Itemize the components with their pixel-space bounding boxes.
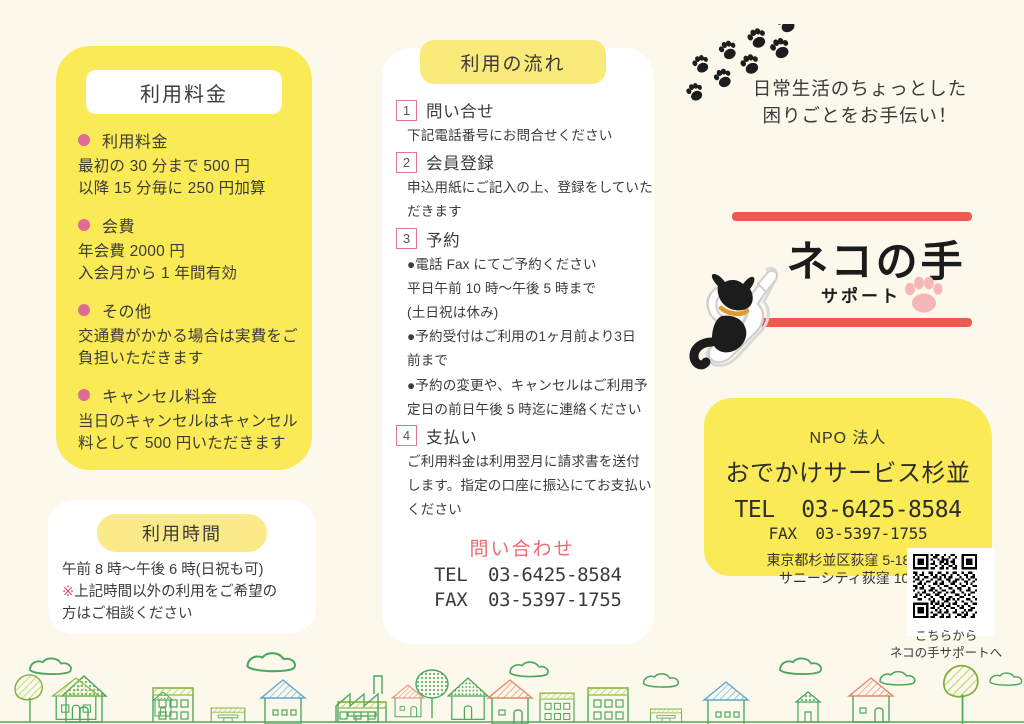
fee-item: 会費 年会費 2000 円 入会月から 1 年間有効 bbox=[78, 213, 302, 285]
fee-panel-title: 利用料金 bbox=[86, 70, 282, 114]
flow-panel: 利用の流れ 1 問い合せ 下記電話番号にお問合せください 2 会員登録 申込用紙… bbox=[382, 48, 654, 644]
flow-step: 3 予約 ●電話 Fax にてご予約ください 平日午前 10 時〜午後 5 時ま… bbox=[396, 227, 648, 422]
cat-illustration-icon bbox=[688, 264, 808, 380]
hours-line-2-text: 上記時間以外の利用をご希望の bbox=[74, 584, 277, 600]
fee-item-line: 交通費がかかる場合は実費をご bbox=[78, 326, 302, 348]
flow-step-label: 予約 bbox=[426, 227, 460, 251]
flow-step-line: ●予約の変更や、キャンセルはご利用予 bbox=[407, 374, 648, 398]
bullet-dot-icon bbox=[78, 389, 90, 401]
flow-contact-fax-row: FAX03-5397-1755 bbox=[434, 588, 648, 612]
hours-card-body: 午前 8 時〜午後 6 時(日祝も可) ※上記時間以外の利用をご希望の 方はご相… bbox=[62, 560, 312, 625]
flow-step-lines: ●電話 Fax にてご予約ください 平日午前 10 時〜午後 5 時まで (土日… bbox=[396, 253, 648, 422]
tagline: 日常生活のちょっとした 困りごとをお手伝い！ bbox=[730, 76, 990, 130]
hours-card-title: 利用時間 bbox=[97, 514, 267, 552]
fee-item-heading: 会費 bbox=[102, 213, 135, 237]
fee-item-line: 負担いただきます bbox=[78, 348, 302, 370]
bullet-dot-icon bbox=[78, 304, 90, 316]
flow-step-line: 平日午前 10 時〜午後 5 時まで bbox=[407, 277, 648, 301]
fee-item-heading: キャンセル料金 bbox=[102, 383, 218, 407]
step-number-badge: 4 bbox=[396, 425, 417, 446]
org-fax-label: FAX bbox=[769, 524, 797, 543]
qr-code[interactable] bbox=[907, 548, 995, 636]
fee-item-heading-row: 会費 bbox=[78, 213, 302, 237]
fee-item-heading-row: キャンセル料金 bbox=[78, 383, 302, 407]
step-number-badge: 2 bbox=[396, 152, 417, 173]
flow-step-line: 申込用紙にご記入の上、登録をしていた bbox=[407, 176, 648, 200]
step-number-badge: 1 bbox=[396, 100, 417, 121]
hours-line-3: 方はご相談ください bbox=[62, 604, 312, 626]
fee-item-lines: 当日のキャンセルはキャンセル 料として 500 円いただきます bbox=[78, 411, 302, 455]
fee-item-heading: その他 bbox=[102, 298, 152, 322]
tel-label: TEL bbox=[434, 563, 488, 587]
fax-value: 03-5397-1755 bbox=[488, 589, 622, 611]
fee-item-line: 料として 500 円いただきます bbox=[78, 433, 302, 455]
qr-caption-line-1: こちらから bbox=[868, 628, 1024, 645]
flow-step-line: ●電話 Fax にてご予約ください bbox=[407, 253, 648, 277]
flow-step-list: 1 問い合せ 下記電話番号にお問合せください 2 会員登録 申込用紙にご記入の上… bbox=[396, 98, 648, 612]
flow-step-line: (土日祝は休み) bbox=[407, 301, 648, 325]
fee-item-line: 最初の 30 分まで 500 円 bbox=[78, 156, 302, 178]
org-fax-row: FAX 03-5397-1755 bbox=[704, 524, 992, 543]
flow-step-lines: ご利用料金は利用翌月に請求書を送付 します。指定の口座に振込にてお支払い くださ… bbox=[396, 450, 648, 523]
attention-mark-icon: ※ bbox=[62, 584, 74, 600]
fee-item-heading: 利用料金 bbox=[102, 128, 168, 152]
step-number-badge: 3 bbox=[396, 228, 417, 249]
flow-contact-tel-row: TEL03-6425-8584 bbox=[434, 563, 648, 587]
flow-step-line: ●予約受付はご利用の1ヶ月前より3日 bbox=[407, 325, 648, 349]
org-fax-value: 03-5397-1755 bbox=[815, 524, 927, 543]
bullet-dot-icon bbox=[78, 134, 90, 146]
flow-step-head: 2 会員登録 bbox=[396, 150, 648, 174]
fax-label: FAX bbox=[434, 588, 488, 612]
flow-step: 1 問い合せ 下記電話番号にお問合せください bbox=[396, 98, 648, 148]
fee-item-list: 利用料金 最初の 30 分まで 500 円 以降 15 分毎に 250 円加算 … bbox=[78, 128, 302, 468]
flow-step-line: 前まで bbox=[407, 349, 648, 373]
fee-item-heading-row: 利用料金 bbox=[78, 128, 302, 152]
qr-code-image bbox=[913, 554, 977, 618]
logo-bar-top bbox=[732, 212, 972, 221]
fee-panel: 利用料金 利用料金 最初の 30 分まで 500 円 以降 15 分毎に 250… bbox=[56, 46, 312, 470]
flow-step-line: ご利用料金は利用翌月に請求書を送付 bbox=[407, 450, 648, 474]
fee-item: キャンセル料金 当日のキャンセルはキャンセル 料として 500 円いただきます bbox=[78, 383, 302, 455]
fee-item-line: 入会月から 1 年間有効 bbox=[78, 263, 302, 285]
fee-item-line: 以降 15 分毎に 250 円加算 bbox=[78, 178, 302, 200]
flow-step-head: 4 支払い bbox=[396, 424, 648, 448]
org-npo-label: NPO 法人 bbox=[704, 424, 992, 448]
flow-panel-title: 利用の流れ bbox=[420, 40, 606, 84]
flow-step-line: 定日の前日午後 5 時迄に連絡ください bbox=[407, 398, 648, 422]
fee-item: その他 交通費がかかる場合は実費をご 負担いただきます bbox=[78, 298, 302, 370]
flow-step-line: だきます bbox=[407, 200, 648, 224]
bullet-dot-icon bbox=[78, 219, 90, 231]
org-name: おでかけサービス杉並 bbox=[704, 453, 992, 488]
flyer-page: 利用料金 利用料金 最初の 30 分まで 500 円 以降 15 分毎に 250… bbox=[0, 0, 1024, 724]
fee-item-lines: 年会費 2000 円 入会月から 1 年間有効 bbox=[78, 241, 302, 285]
flow-contact-rows: TEL03-6425-8584 FAX03-5397-1755 bbox=[396, 563, 648, 612]
cityscape-illustration bbox=[0, 644, 1024, 724]
hours-line-2: ※上記時間以外の利用をご希望の bbox=[62, 582, 312, 604]
hours-card: 利用時間 午前 8 時〜午後 6 時(日祝も可) ※上記時間以外の利用をご希望の… bbox=[48, 500, 316, 634]
flow-step-head: 3 予約 bbox=[396, 227, 648, 251]
flow-step: 4 支払い ご利用料金は利用翌月に請求書を送付 します。指定の口座に振込にてお支… bbox=[396, 424, 648, 523]
tagline-line-1: 日常生活のちょっとした bbox=[730, 76, 990, 103]
logo-block: ネコの手 サポート bbox=[690, 200, 1010, 380]
flow-step: 2 会員登録 申込用紙にご記入の上、登録をしていた だきます bbox=[396, 150, 648, 224]
flow-step-label: 支払い bbox=[426, 424, 477, 448]
flow-step-lines: 下記電話番号にお問合せください bbox=[396, 124, 648, 148]
tel-value: 03-6425-8584 bbox=[488, 564, 622, 586]
flow-step-line: ください bbox=[407, 498, 648, 522]
flow-step-label: 問い合せ bbox=[426, 98, 494, 122]
fee-item-heading-row: その他 bbox=[78, 298, 302, 322]
fee-item-line: 当日のキャンセルはキャンセル bbox=[78, 411, 302, 433]
org-tel-row: TEL 03-6425-8584 bbox=[704, 497, 992, 523]
flow-step-line: 下記電話番号にお問合せください bbox=[407, 124, 648, 148]
fee-item-lines: 最初の 30 分まで 500 円 以降 15 分毎に 250 円加算 bbox=[78, 156, 302, 200]
fee-item: 利用料金 最初の 30 分まで 500 円 以降 15 分毎に 250 円加算 bbox=[78, 128, 302, 200]
flow-contact-heading: 問い合わせ bbox=[396, 534, 648, 561]
hours-line-1: 午前 8 時〜午後 6 時(日祝も可) bbox=[62, 560, 312, 582]
flow-step-head: 1 問い合せ bbox=[396, 98, 648, 122]
flow-step-line: します。指定の口座に振込にてお支払い bbox=[407, 474, 648, 498]
org-tel-label: TEL bbox=[735, 497, 775, 523]
org-tel-value: 03-6425-8584 bbox=[801, 497, 961, 523]
pink-paw-icon bbox=[902, 272, 946, 316]
fee-item-lines: 交通費がかかる場合は実費をご 負担いただきます bbox=[78, 326, 302, 370]
fee-item-line: 年会費 2000 円 bbox=[78, 241, 302, 263]
flow-step-lines: 申込用紙にご記入の上、登録をしていた だきます bbox=[396, 176, 648, 224]
flow-step-label: 会員登録 bbox=[426, 150, 494, 174]
tagline-line-2: 困りごとをお手伝い！ bbox=[730, 103, 990, 130]
